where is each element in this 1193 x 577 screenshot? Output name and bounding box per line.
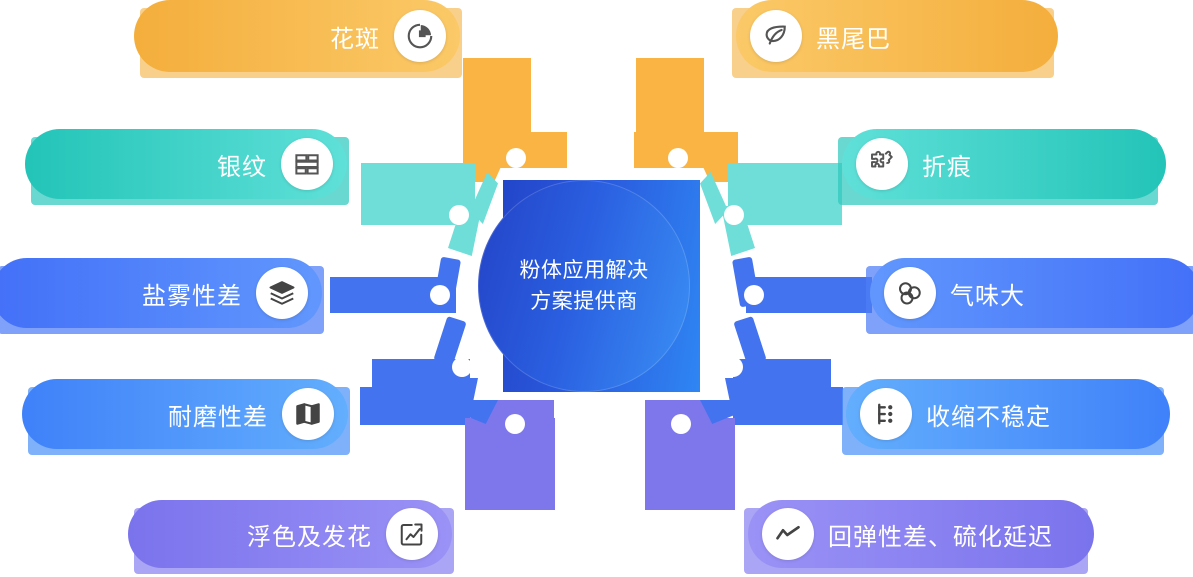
node-n10-pill[interactable]: 回弹性差、硫化延迟: [748, 500, 1094, 568]
sitemap-icon: [860, 388, 912, 440]
recycle-icon: [884, 267, 936, 319]
node-n1-label: 花斑: [330, 19, 380, 54]
map-book-icon: [282, 388, 334, 440]
connector-n4: [728, 163, 842, 225]
connector-dot-n1: [506, 148, 526, 168]
node-n8-pill[interactable]: 收缩不稳定: [846, 379, 1170, 449]
node-n2-pill[interactable]: 黑尾巴: [736, 0, 1058, 72]
node-n9-pill[interactable]: 浮色及发花: [128, 500, 452, 568]
node-n2-label: 黑尾巴: [816, 19, 891, 54]
node-n7-label: 耐磨性差: [168, 397, 268, 432]
connector-dot-n8b: [671, 414, 691, 434]
connector-dot-n2: [668, 148, 688, 168]
connector-dot-n7b: [505, 414, 525, 434]
node-n8-label: 收缩不稳定: [926, 397, 1051, 432]
connector-dot-n8: [723, 357, 743, 377]
connector-dot-n4: [724, 205, 744, 225]
connector-dot-n5: [430, 285, 450, 305]
line-chart-icon: [762, 508, 814, 560]
node-n3-pill[interactable]: 银纹: [25, 129, 347, 199]
node-n7-pill[interactable]: 耐磨性差: [22, 379, 348, 449]
node-n6-pill[interactable]: 气味大: [870, 258, 1193, 328]
puzzle-icon: [856, 138, 908, 190]
connector-n10-arm: [645, 418, 735, 510]
node-n4-label: 折痕: [922, 147, 972, 182]
diagram-canvas: 粉体应用解决 方案提供商 花斑 黑尾巴: [0, 0, 1193, 577]
brick-wall-icon: [281, 138, 333, 190]
node-n4-pill[interactable]: 折痕: [842, 129, 1166, 199]
node-n1-pill[interactable]: 花斑: [134, 0, 460, 72]
node-n5-pill[interactable]: 盐雾性差: [0, 258, 322, 328]
pie-chart-icon: [394, 10, 446, 62]
connector-dot-n3: [449, 205, 469, 225]
node-n9-label: 浮色及发花: [247, 517, 372, 552]
node-n6-label: 气味大: [950, 276, 1025, 311]
node-n10-label: 回弹性差、硫化延迟: [828, 517, 1053, 552]
node-n3-label: 银纹: [217, 147, 267, 182]
trend-box-icon: [386, 508, 438, 560]
leaf-icon: [750, 10, 802, 62]
connector-n6: [746, 277, 872, 313]
connector-dot-n6: [744, 285, 764, 305]
layers-icon: [256, 267, 308, 319]
node-n5-label: 盐雾性差: [142, 276, 242, 311]
center-hub-label: 粉体应用解决 方案提供商: [478, 180, 690, 392]
connector-dot-n7: [452, 357, 472, 377]
